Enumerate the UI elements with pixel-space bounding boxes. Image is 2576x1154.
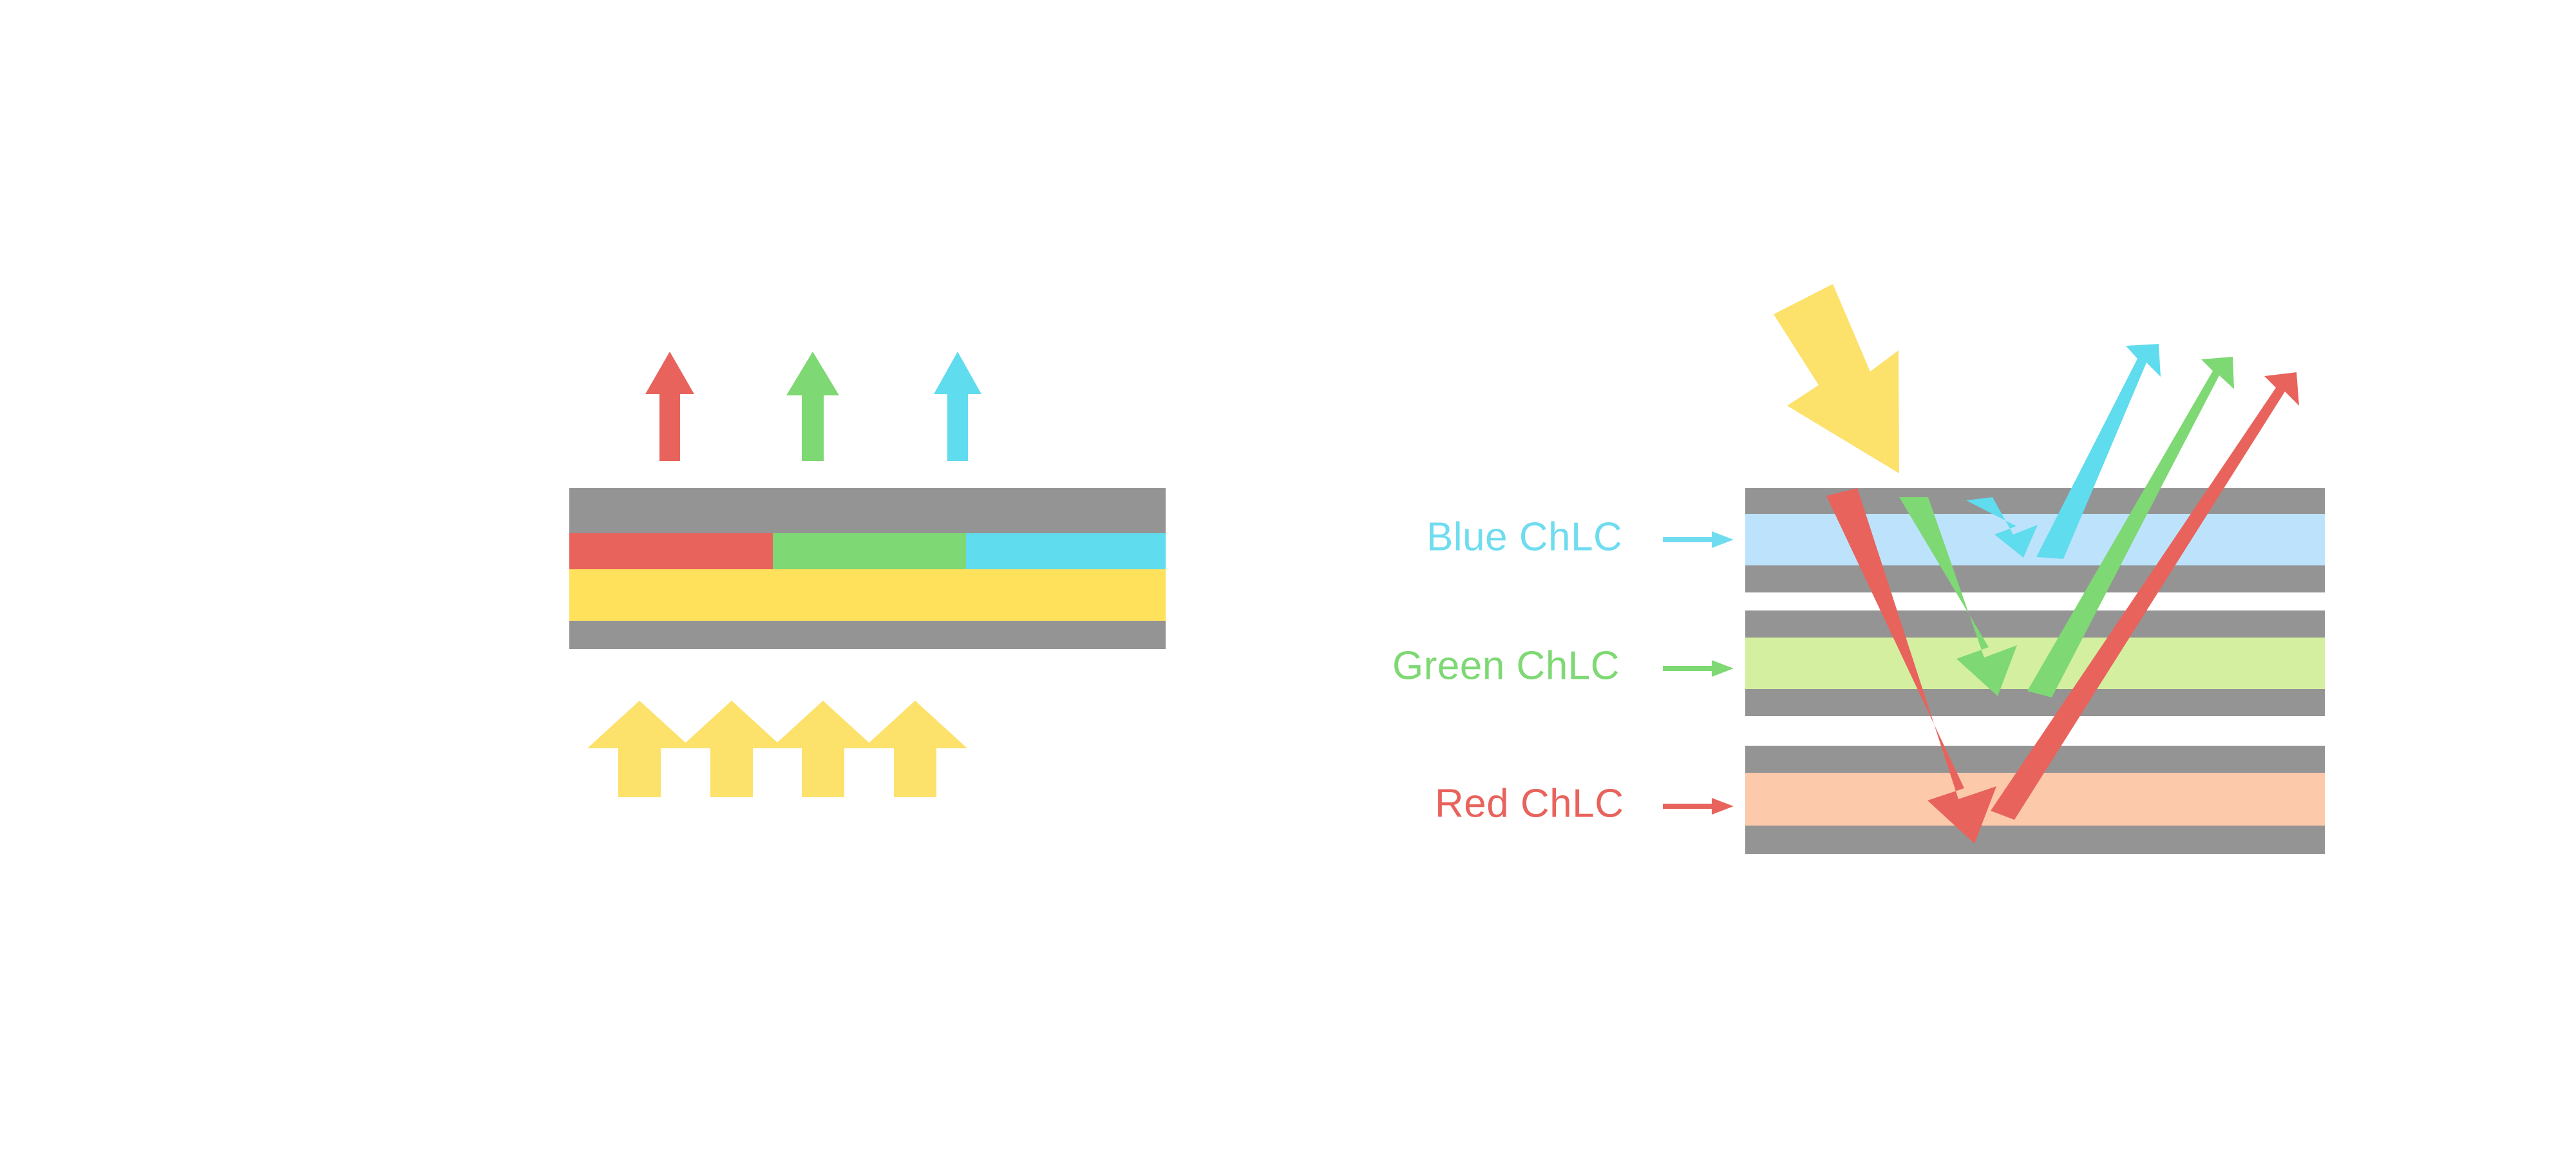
yellow-backlight-arrow-4 [863, 701, 967, 797]
red-chlc-label: Red ChLC [1435, 781, 1624, 826]
red-filter-segment [569, 533, 773, 569]
blue-cell-bottom-electrode [1745, 565, 2325, 592]
blue-chlc-label-group: Blue ChLC [1426, 515, 1734, 559]
left-backlight-arrows [587, 701, 967, 797]
green-cell-top-electrode [1745, 610, 2325, 638]
left-top-electrode [569, 488, 1166, 533]
green-filter-segment [773, 533, 966, 569]
blue-label-pointer-arrow-icon [1663, 531, 1734, 548]
green-chlc-label: Green ChLC [1392, 643, 1620, 688]
yellow-backlight-arrow-2 [679, 701, 784, 797]
chlc-diagram: Blue ChLC Green ChLC Red ChLC [0, 0, 2576, 1154]
yellow-backlight-arrow-1 [587, 701, 692, 797]
green-cell-bottom-electrode [1745, 689, 2325, 716]
red-chlc-label-group: Red ChLC [1435, 781, 1734, 826]
incident-white-light-arrow [1774, 284, 1899, 473]
green-chlc-cell [1745, 610, 2325, 716]
blue-lc-layer [1745, 514, 2325, 565]
yellow-backlight-arrow-3 [771, 701, 875, 797]
figure-root: Blue ChLC Green ChLC Red ChLC [0, 0, 2576, 1154]
left-stack-layers [569, 488, 1166, 649]
green-output-arrow [786, 352, 839, 461]
blue-output-arrow [934, 352, 981, 461]
green-label-pointer-arrow-icon [1663, 660, 1734, 677]
red-output-arrow [645, 352, 694, 461]
right-chlc-stack: Blue ChLC Green ChLC Red ChLC [1392, 284, 2325, 854]
left-emissive-stack [569, 352, 1166, 797]
red-label-pointer-arrow-icon [1663, 798, 1734, 815]
chlc-labels: Blue ChLC Green ChLC Red ChLC [1392, 515, 1734, 826]
green-chlc-label-group: Green ChLC [1392, 643, 1734, 688]
left-bottom-electrode [569, 621, 1166, 649]
left-output-arrows [645, 352, 981, 461]
blue-chlc-label: Blue ChLC [1426, 515, 1622, 559]
yellow-backlight-layer [569, 569, 1166, 621]
incident-white-light-arrow-group [1774, 284, 1899, 473]
red-cell-bottom-electrode [1745, 826, 2325, 854]
blue-filter-segment [966, 533, 1166, 569]
